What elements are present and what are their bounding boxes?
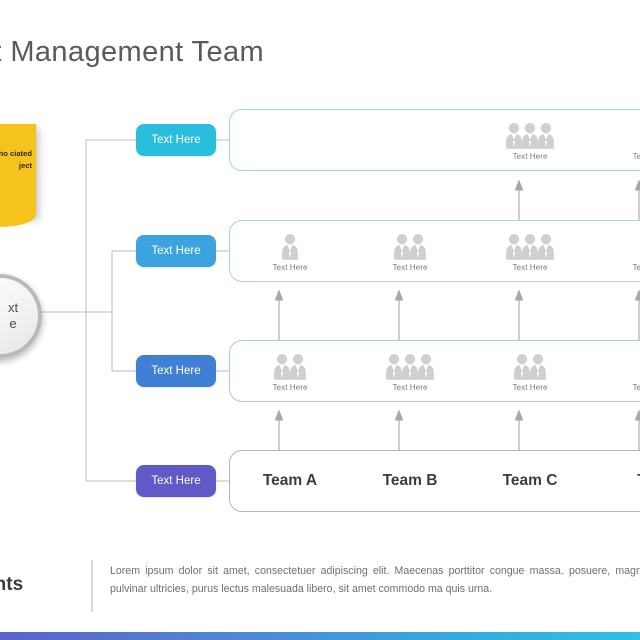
highlights-divider <box>91 560 93 612</box>
team-cell[interactable]: Text Here <box>590 350 640 392</box>
team-row-1-cells: Text Here Text Here <box>230 110 640 170</box>
team-cell-label: Text Here <box>512 263 547 272</box>
team-cell-label: Text Here <box>512 383 547 392</box>
team-cell-label: Text Here <box>632 152 640 161</box>
team-row-4[interactable]: Team A Team B Team C Tea <box>229 450 640 512</box>
team-cell-label: Text Here <box>512 152 547 161</box>
team-row-1[interactable]: Text Here Text Here <box>229 109 640 171</box>
branch-pill-2[interactable]: Text Here <box>136 235 216 267</box>
branch-pill-4[interactable]: Text Here <box>136 465 216 497</box>
team-cell-label: Text Here <box>272 263 307 272</box>
team-cell-label: Text Here <box>272 383 307 392</box>
team-cell[interactable]: Text Here <box>350 350 470 392</box>
team-cell[interactable]: Text Here <box>230 350 350 392</box>
branch-pill-4-label: Text Here <box>151 475 200 487</box>
team-name-label: Team A <box>263 472 317 490</box>
root-node-label: xt e <box>0 300 18 332</box>
team-cell[interactable]: Text Here <box>470 350 590 392</box>
team-row-3[interactable]: Text Here Text Here Text Here Text Here <box>229 340 640 402</box>
team-name-cell[interactable]: Team B <box>350 472 470 490</box>
people-group-icon <box>506 119 554 149</box>
team-cell-label: Text Here <box>392 263 427 272</box>
slide-canvas: ect Management Team ers all who ciated j… <box>0 0 640 640</box>
branch-pill-3[interactable]: Text Here <box>136 355 216 387</box>
people-group-icon <box>394 230 426 260</box>
team-name-cell[interactable]: Team A <box>230 472 350 490</box>
branch-pill-3-label: Text Here <box>151 365 200 377</box>
team-cell-label: Text Here <box>392 383 427 392</box>
people-group-icon <box>282 230 298 260</box>
team-cell[interactable]: Text Here <box>470 119 590 161</box>
team-cell[interactable]: Text Here <box>590 119 640 161</box>
team-cell[interactable]: Text Here <box>350 230 470 272</box>
team-cell-label: Text Here <box>632 383 640 392</box>
team-name-cell[interactable]: Team C <box>470 472 590 490</box>
branch-pill-1-label: Text Here <box>151 134 200 146</box>
team-name-label: Team B <box>383 472 438 490</box>
team-name-cell[interactable]: Tea <box>590 472 640 490</box>
team-cell[interactable]: Text Here <box>470 230 590 272</box>
people-group-icon <box>274 350 306 380</box>
connector-lines <box>0 0 640 640</box>
team-row-4-cells: Team A Team B Team C Tea <box>230 451 640 511</box>
branch-pill-1[interactable]: Text Here <box>136 124 216 156</box>
highlights-title: ighlights <box>0 574 23 596</box>
team-name-label: Team C <box>503 472 558 490</box>
people-group-icon <box>514 350 546 380</box>
people-group-icon <box>506 230 554 260</box>
team-row-2[interactable]: Text Here Text Here Text Here Text Here <box>229 220 640 282</box>
team-cell[interactable]: Text Here <box>590 230 640 272</box>
team-row-2-cells: Text Here Text Here Text Here Text Here <box>230 221 640 281</box>
bottom-accent-bar <box>0 632 640 640</box>
team-cell-label: Text Here <box>632 263 640 272</box>
highlights-body: Lorem ipsum dolor sit amet, consectetuer… <box>110 563 640 598</box>
team-row-3-cells: Text Here Text Here Text Here Text Here <box>230 341 640 401</box>
team-cell[interactable]: Text Here <box>230 230 350 272</box>
people-group-icon <box>386 350 434 380</box>
branch-pill-2-label: Text Here <box>151 245 200 257</box>
